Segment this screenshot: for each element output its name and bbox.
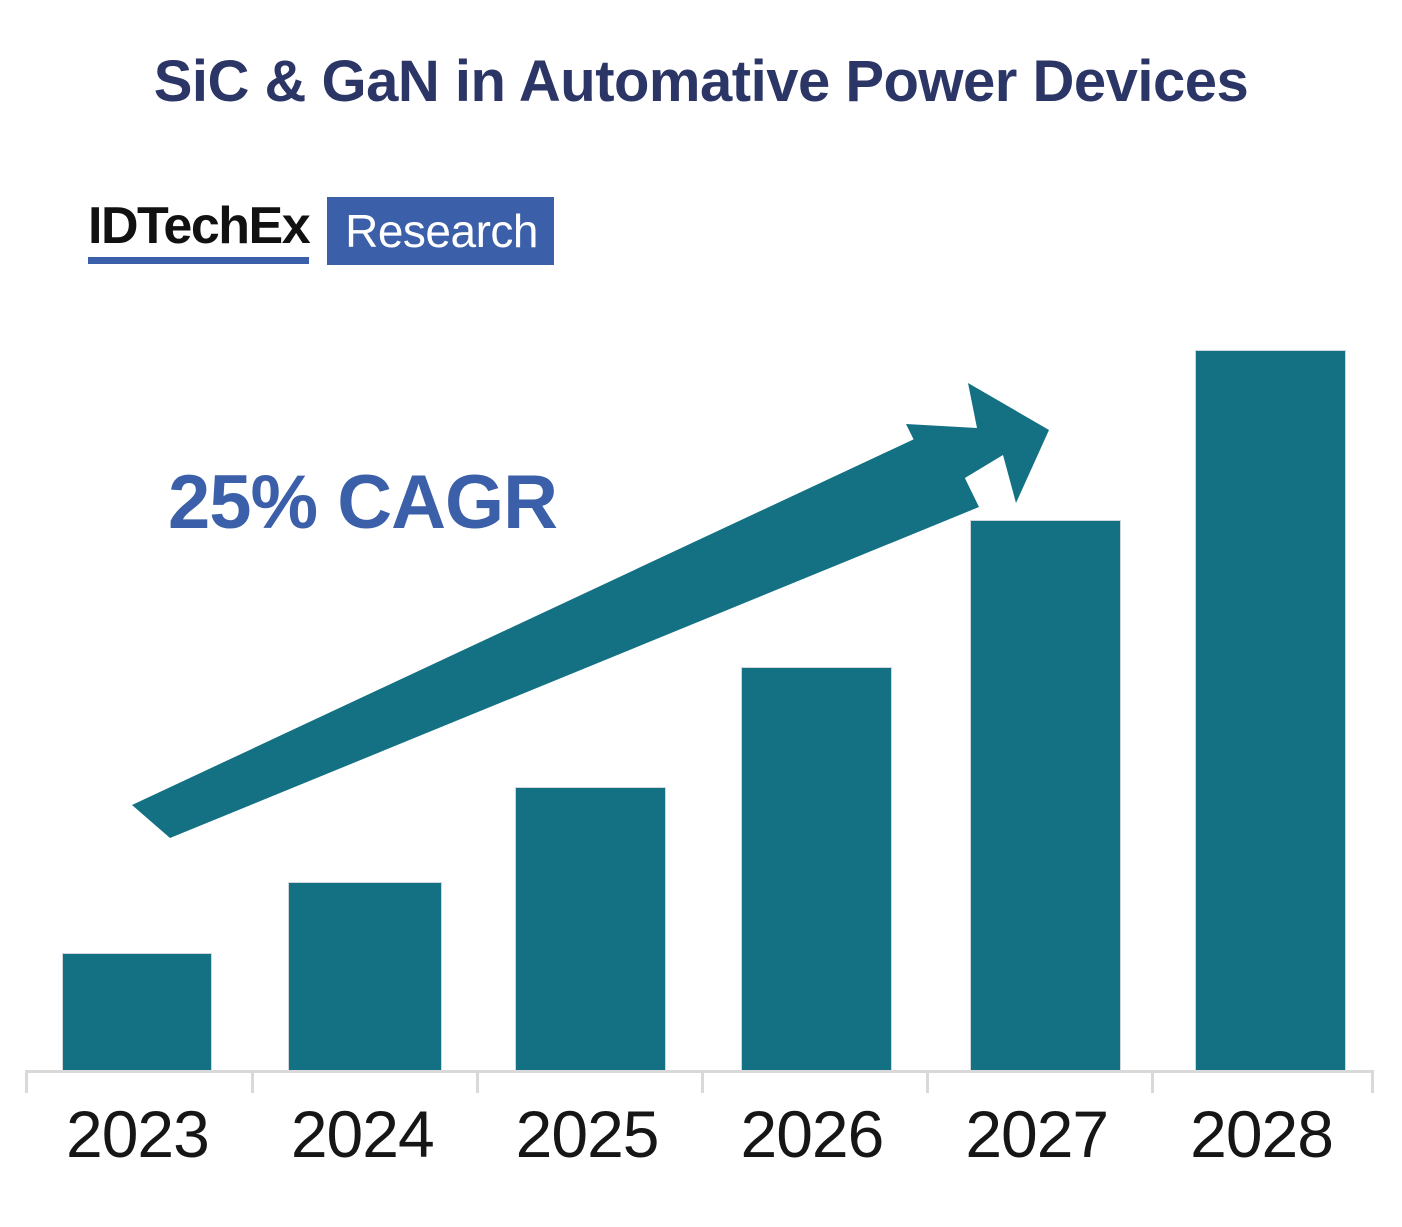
x-tick-label-2024: 2024: [250, 1096, 475, 1172]
x-tick-label-2028: 2028: [1149, 1096, 1374, 1172]
x-tick-label-2023: 2023: [25, 1096, 250, 1172]
x-tick-label-2027: 2027: [924, 1096, 1149, 1172]
bar-2024: [288, 882, 442, 1072]
bar-2027: [970, 520, 1121, 1072]
bar-2023: [62, 953, 212, 1072]
plot-area: [0, 0, 1402, 1227]
bar-2026: [741, 667, 892, 1072]
chart-page: SiC & GaN in Automative Power Devices ID…: [0, 0, 1402, 1227]
bar-2025: [515, 787, 666, 1072]
cagr-annotation-label: 25% CAGR: [168, 459, 557, 546]
x-tick-label-2026: 2026: [699, 1096, 924, 1172]
x-axis-tick-labels: 2023 2024 2025 2026 2027 2028: [25, 1096, 1374, 1172]
x-tick-label-2025: 2025: [475, 1096, 700, 1172]
bar-2028: [1195, 350, 1346, 1072]
